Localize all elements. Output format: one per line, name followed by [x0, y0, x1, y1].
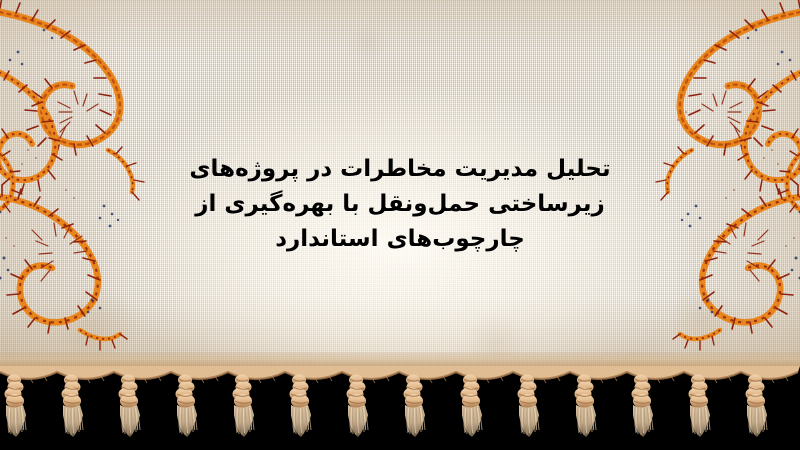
slide-canvas: تحلیل مدیریت مخاطرات در پروژه‌های زیرساخ… — [0, 0, 800, 450]
title-line-3: چارچوب‌های استاندارد — [0, 222, 800, 257]
tassel-fringe — [0, 366, 800, 450]
title-line-1: تحلیل مدیریت مخاطرات در پروژه‌های — [0, 152, 800, 187]
title-line-2: زیرساختی حمل‌ونقل با بهره‌گیری از — [0, 187, 800, 222]
slide-title: تحلیل مدیریت مخاطرات در پروژه‌های زیرساخ… — [0, 152, 800, 257]
tassel-group — [5, 375, 768, 438]
